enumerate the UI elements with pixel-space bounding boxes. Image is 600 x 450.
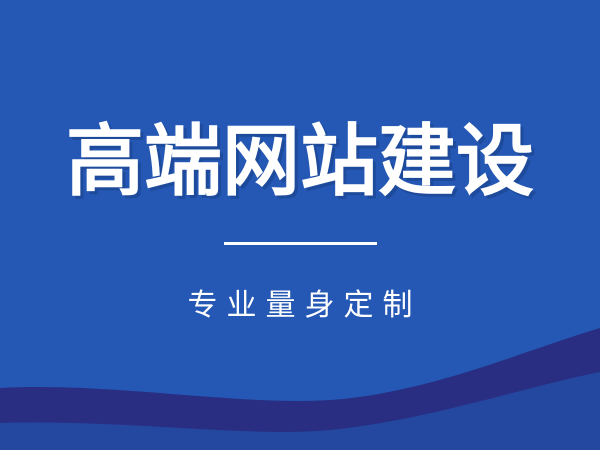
page-title: 高端网站建设: [0, 114, 600, 210]
title-divider: [224, 242, 377, 245]
page-subtitle: 专业量身定制: [0, 286, 600, 326]
banner-content: 高端网站建设 专业量身定制: [0, 0, 600, 450]
promo-banner: 高端网站建设 专业量身定制: [0, 0, 600, 450]
